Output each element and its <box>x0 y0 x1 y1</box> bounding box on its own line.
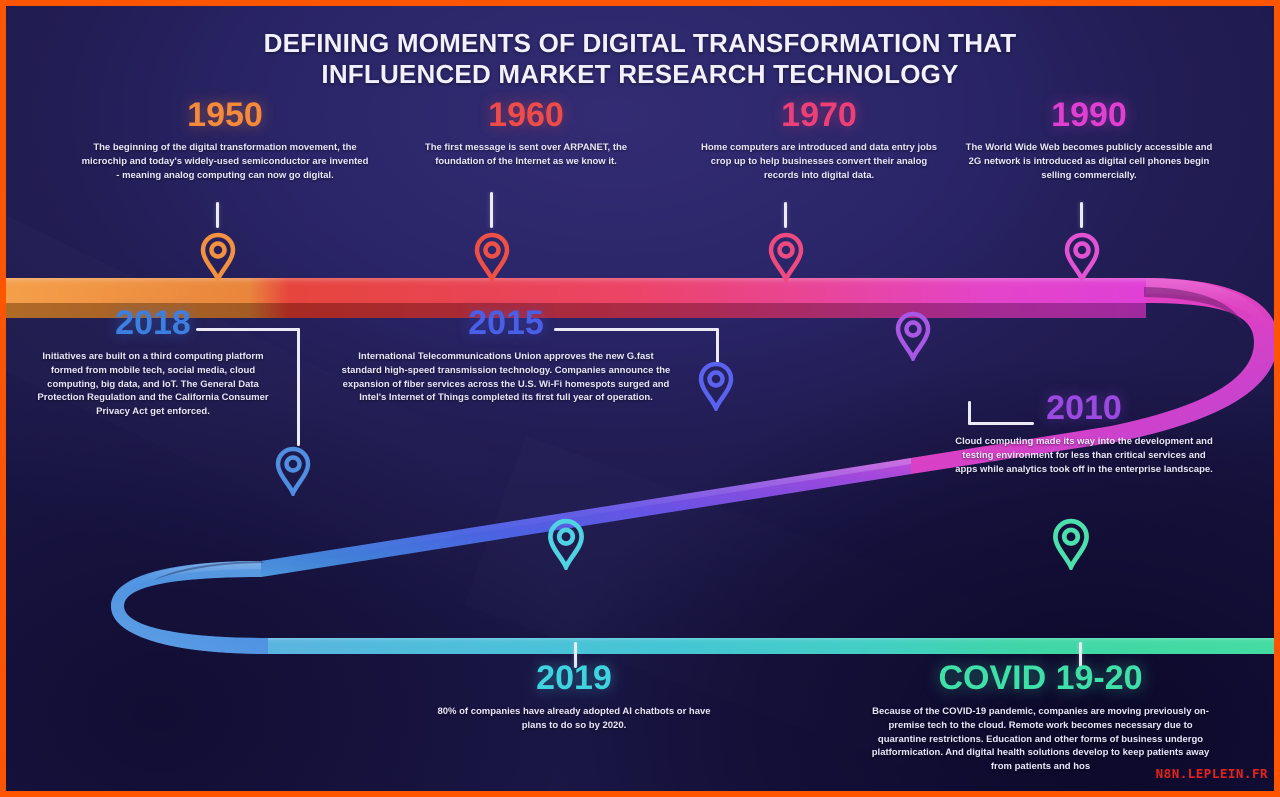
timeline-event-2015: 2015 International Telecommunications Un… <box>341 306 671 405</box>
year-label-2018: 2018 <box>28 306 278 340</box>
year-label-1970: 1970 <box>694 98 944 132</box>
title-line-2: INFLUENCED MARKET RESEARCH TECHNOLOGY <box>6 59 1274 90</box>
map-pin-icon-1970[interactable] <box>768 232 804 282</box>
timeline-event-1960: 1960 The first message is sent over ARPA… <box>406 98 646 169</box>
year-label-1960: 1960 <box>406 98 646 132</box>
page-title: DEFINING MOMENTS OF DIGITAL TRANSFORMATI… <box>6 28 1274 89</box>
watermark: N8N.LEPLEIN.FR <box>1156 766 1268 781</box>
map-pin-icon-2010[interactable] <box>895 311 931 361</box>
map-pin-icon-2018[interactable] <box>275 446 311 496</box>
connector-stem-1950 <box>216 202 219 228</box>
event-description-1960: The first message is sent over ARPANET, … <box>406 141 646 169</box>
timeline-event-covid: COVID 19-20 Because of the COVID-19 pand… <box>868 661 1213 774</box>
year-label-2015: 2015 <box>341 306 671 340</box>
timeline-event-1970: 1970 Home computers are introduced and d… <box>694 98 944 182</box>
title-line-1: DEFINING MOMENTS OF DIGITAL TRANSFORMATI… <box>264 28 1017 58</box>
event-description-1950: The beginning of the digital transformat… <box>80 141 370 182</box>
timeline-event-2010: 2010 Cloud computing made its way into t… <box>954 391 1214 476</box>
year-label-1990: 1990 <box>964 98 1214 132</box>
map-pin-icon-covid[interactable] <box>1052 518 1090 570</box>
connector-stem-1970 <box>784 202 787 228</box>
event-description-2015: International Telecommunications Union a… <box>341 350 671 405</box>
event-description-2010: Cloud computing made its way into the de… <box>954 435 1214 476</box>
year-label-2019: 2019 <box>424 661 724 695</box>
timeline-event-2019: 2019 80% of companies have already adopt… <box>424 661 724 733</box>
infographic-frame: DEFINING MOMENTS OF DIGITAL TRANSFORMATI… <box>0 0 1280 797</box>
map-pin-icon-1960[interactable] <box>474 232 510 282</box>
infographic-canvas: DEFINING MOMENTS OF DIGITAL TRANSFORMATI… <box>6 6 1274 791</box>
timeline-event-2018: 2018 Initiatives are built on a third co… <box>28 306 278 419</box>
map-pin-icon-2019[interactable] <box>547 518 585 570</box>
map-pin-icon-2015[interactable] <box>698 361 734 411</box>
timeline-event-1990: 1990 The World Wide Web becomes publicly… <box>964 98 1214 182</box>
map-pin-icon-1990[interactable] <box>1064 232 1100 282</box>
connector-stem-1990 <box>1080 202 1083 228</box>
event-description-1970: Home computers are introduced and data e… <box>694 141 944 182</box>
event-description-covid: Because of the COVID-19 pandemic, compan… <box>868 705 1213 774</box>
event-description-1990: The World Wide Web becomes publicly acce… <box>964 141 1214 182</box>
year-label-covid: COVID 19-20 <box>868 661 1213 695</box>
year-label-1950: 1950 <box>80 98 370 132</box>
map-pin-icon-1950[interactable] <box>200 232 236 282</box>
connector-stem-1960 <box>490 192 493 228</box>
event-description-2018: Initiatives are built on a third computi… <box>28 350 278 419</box>
timeline-event-1950: 1950 The beginning of the digital transf… <box>80 98 370 182</box>
event-description-2019: 80% of companies have already adopted AI… <box>424 705 724 733</box>
year-label-2010: 2010 <box>954 391 1214 425</box>
